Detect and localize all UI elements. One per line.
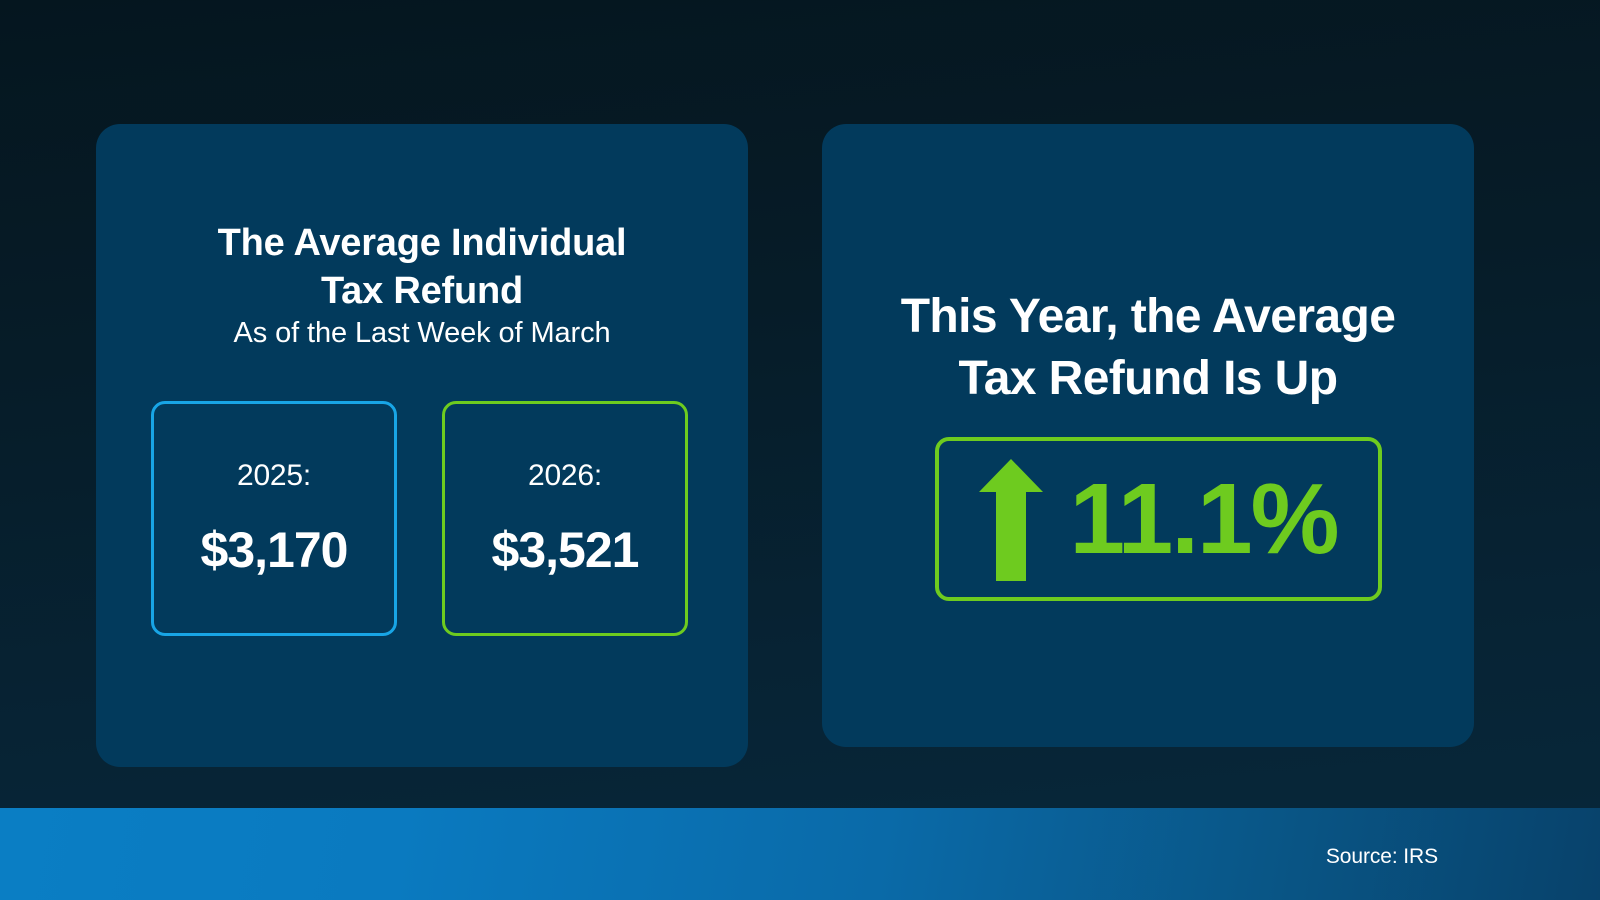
right-panel-heading: This Year, the Average Tax Refund Is Up [840, 286, 1456, 411]
left-panel-heading-line2: Tax Refund [96, 267, 748, 315]
percent-change-value: 11.1% [1069, 469, 1337, 569]
stat-value-2026: $3,521 [492, 521, 639, 579]
right-panel-card: This Year, the Average Tax Refund Is Up … [822, 124, 1474, 747]
up-arrow-icon [979, 459, 1043, 581]
stat-box-2026: 2026: $3,521 [442, 401, 688, 636]
stat-label-2026: 2026: [528, 459, 602, 493]
footer-bar: Source: IRS [0, 808, 1600, 900]
stat-value-2025: $3,170 [201, 521, 348, 579]
right-panel-heading-line2: Tax Refund Is Up [840, 348, 1456, 410]
left-panel-subheading: As of the Last Week of March [96, 317, 748, 350]
source-credit: Source: IRS [1326, 845, 1438, 869]
stat-label-2025: 2025: [237, 459, 311, 493]
left-panel-heading-line1: The Average Individual [96, 219, 748, 267]
infographic-root: The Average Individual Tax Refund As of … [0, 0, 1600, 900]
left-panel-heading: The Average Individual Tax Refund [96, 219, 748, 316]
stat-box-2025: 2025: $3,170 [151, 401, 397, 636]
left-panel-card: The Average Individual Tax Refund As of … [96, 124, 748, 767]
right-panel-heading-line1: This Year, the Average [840, 286, 1456, 348]
percent-change-box: 11.1% [935, 437, 1382, 601]
